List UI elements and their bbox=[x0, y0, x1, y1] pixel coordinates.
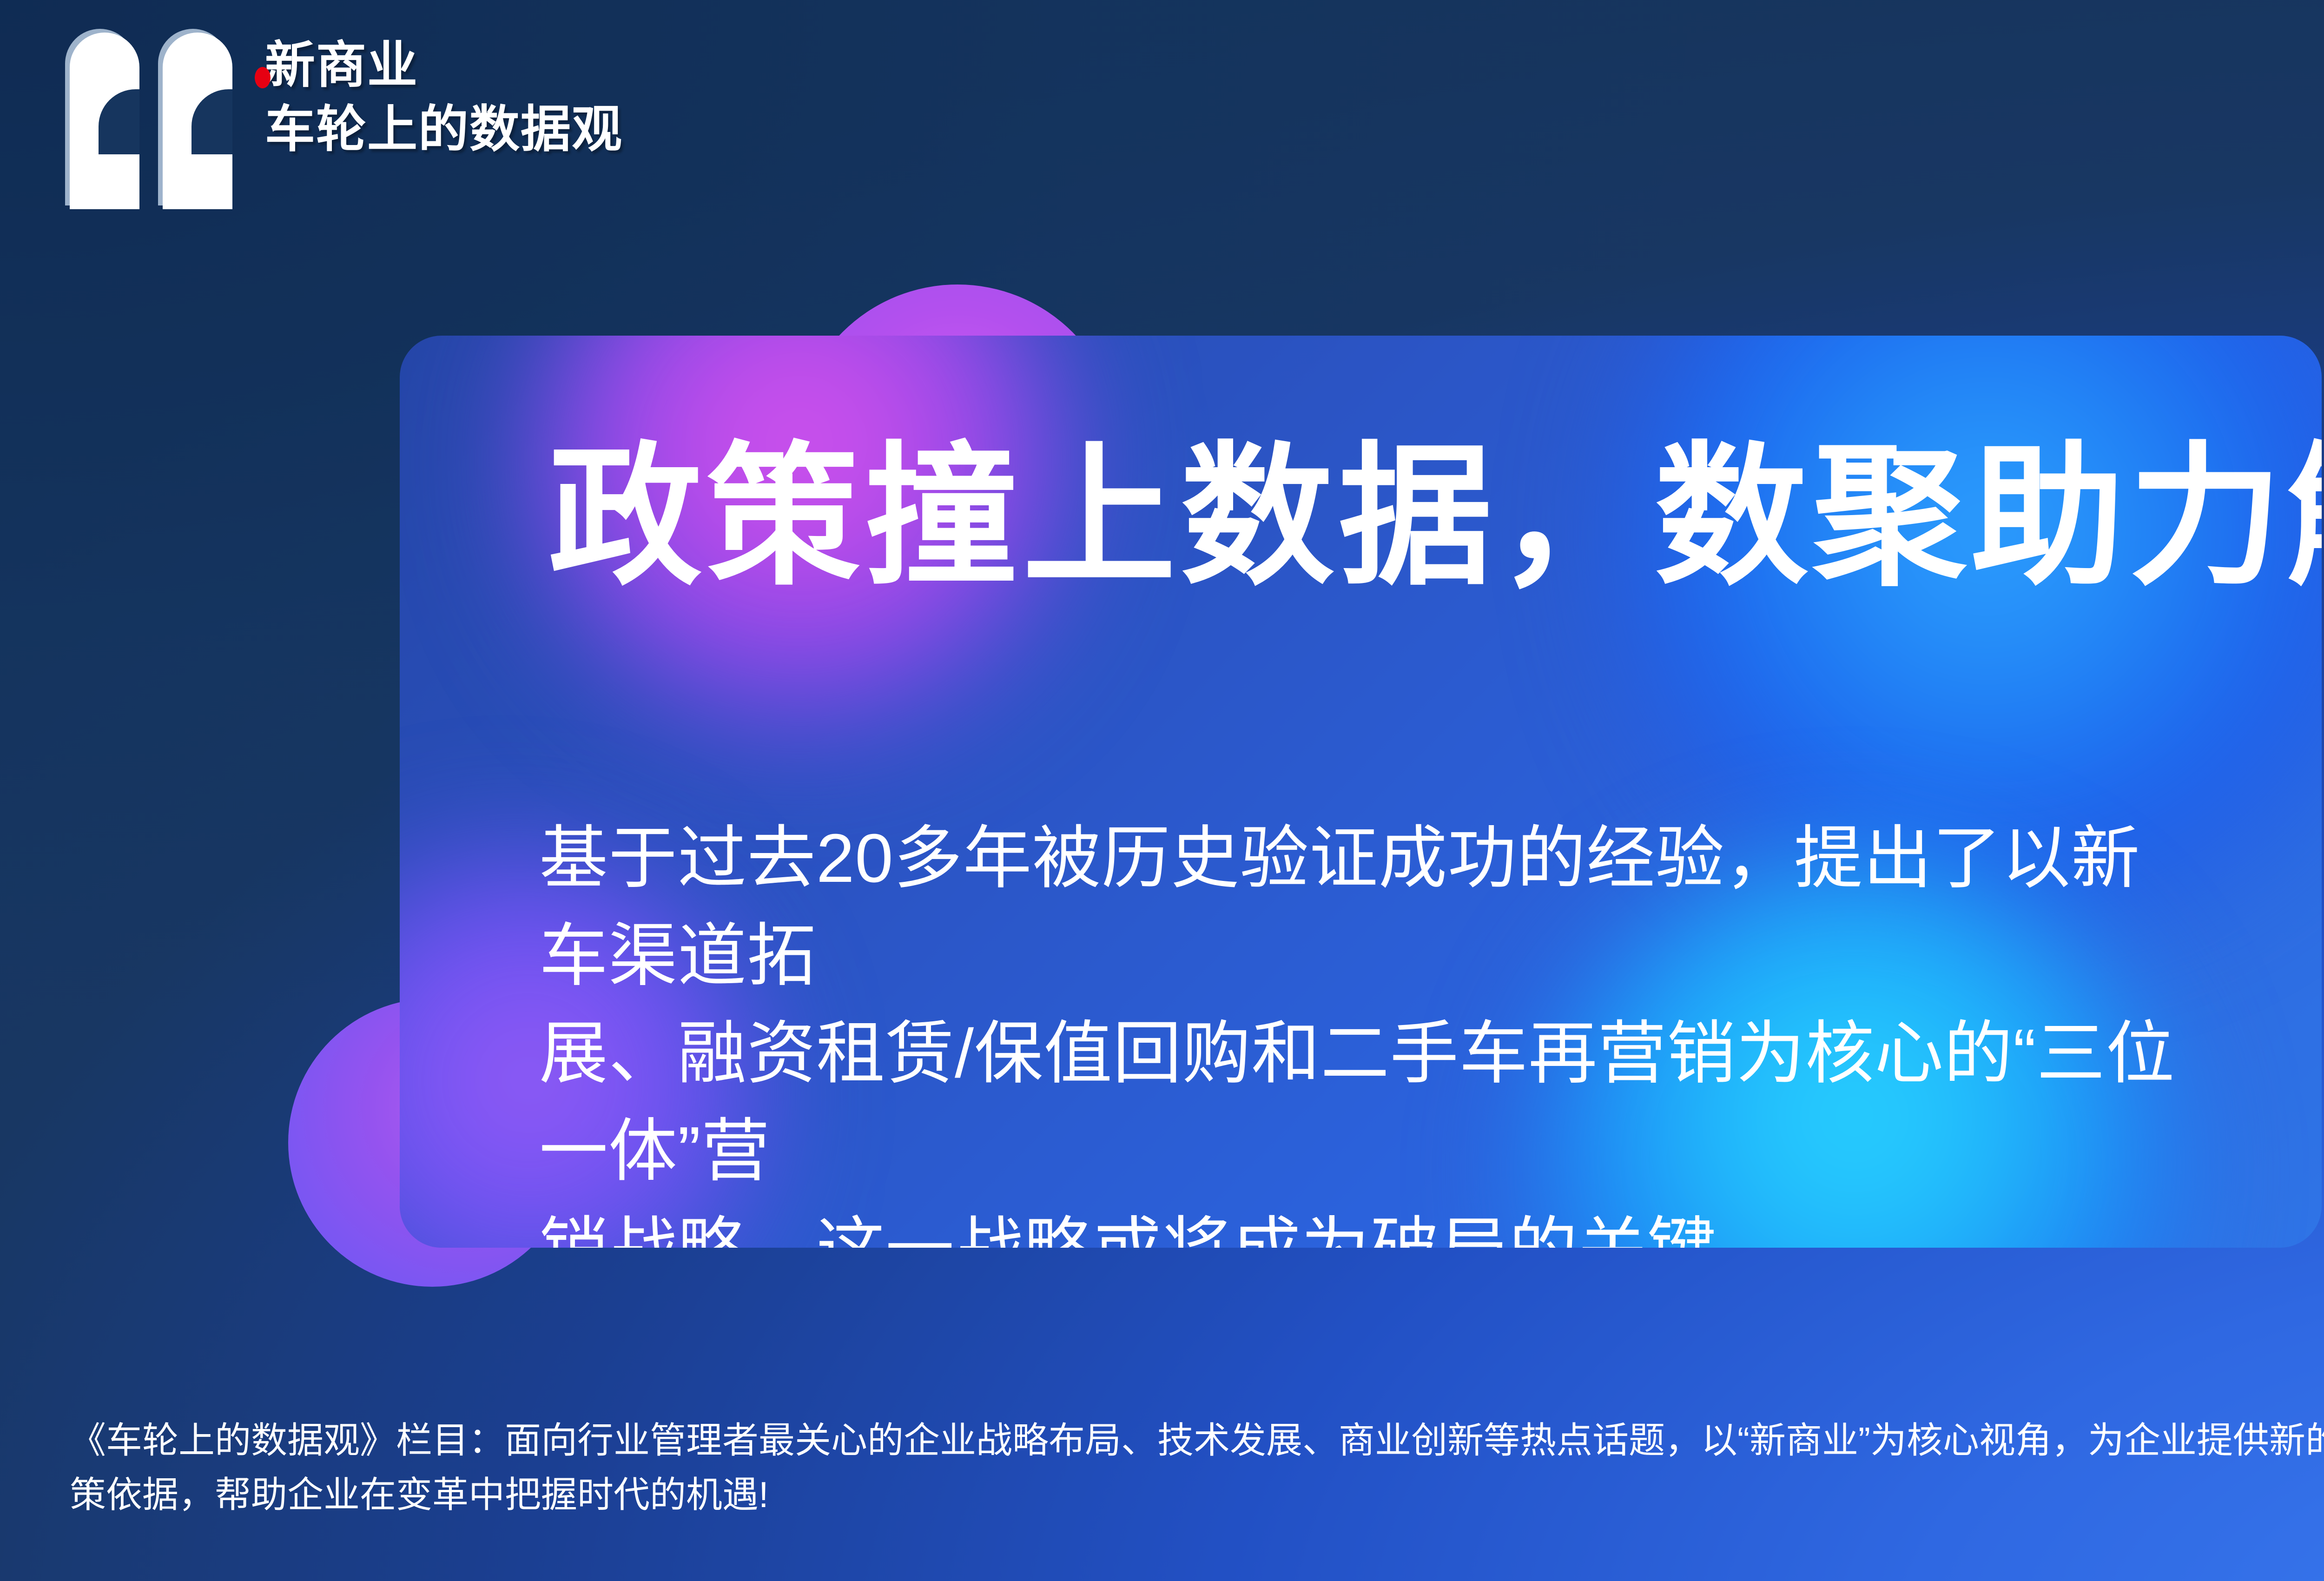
brand-subtitle: 车轮上的数据观 bbox=[265, 103, 623, 155]
feature-card: 政策撞上数据，数聚助力解惑 基于过去20多年被历史验证成功的经验，提出了以新车渠… bbox=[400, 336, 2322, 1248]
body-line-2: 展、融资租赁/保值回购和二手车再营销为核心的“三位一体”营 bbox=[539, 1005, 2182, 1200]
double-quote-open-icon bbox=[70, 33, 237, 209]
body-line-3: 销战略，这一战略或将成为破局的关键。 bbox=[539, 1201, 2182, 1248]
body-line-1: 基于过去20多年被历史验证成功的经验，提出了以新车渠道拓 bbox=[539, 810, 2182, 1005]
brand-text-block: 新商业 车轮上的数据观 bbox=[265, 33, 623, 156]
card-body-copy: 基于过去20多年被历史验证成功的经验，提出了以新车渠道拓 展、融资租赁/保值回购… bbox=[400, 810, 2322, 1248]
card-content: 政策撞上数据，数聚助力解惑 基于过去20多年被历史验证成功的经验，提出了以新车渠… bbox=[400, 336, 2322, 1248]
brand-name: 新商业 bbox=[265, 39, 623, 91]
accent-dot-icon bbox=[255, 67, 271, 88]
brand-masthead: 新商业 车轮上的数据观 bbox=[70, 33, 623, 209]
footer-note: 《车轮上的数据观》栏目：面向行业管理者最关心的企业战略布局、技术发展、商业创新等… bbox=[70, 1413, 2324, 1522]
brand-name-label: 新商业 bbox=[265, 37, 418, 93]
footer-line-2: 策依据，帮助企业在变革中把握时代的机遇! bbox=[70, 1468, 2324, 1522]
footer-line-1: 《车轮上的数据观》栏目：面向行业管理者最关心的企业战略布局、技术发展、商业创新等… bbox=[70, 1413, 2324, 1468]
page-title: 政策撞上数据，数聚助力解惑 bbox=[548, 440, 2322, 594]
